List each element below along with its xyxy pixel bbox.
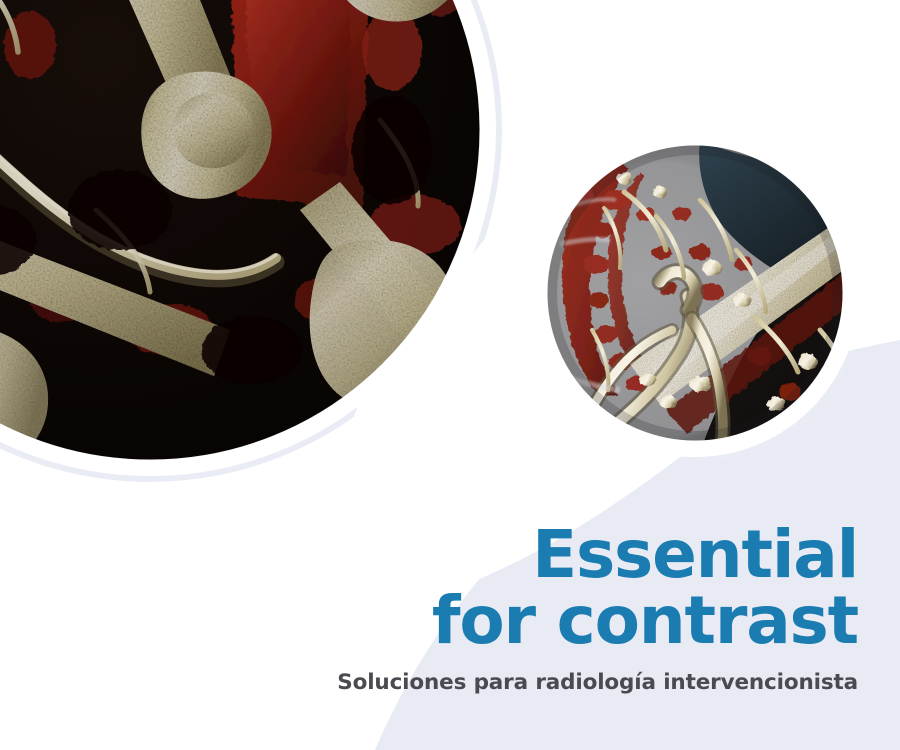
cover-text-block: Essential for contrast Soluciones para r… [0,520,858,696]
white-ring-top-left-overlay [0,0,484,464]
headline-line-1: Essential [0,520,858,590]
white-ring-right-overlay [543,141,847,445]
headline-line-2: for contrast [0,586,858,656]
brochure-cover: Essential for contrast Soluciones para r… [0,0,900,750]
cover-subtitle: Soluciones para radiología intervencioni… [0,670,858,696]
